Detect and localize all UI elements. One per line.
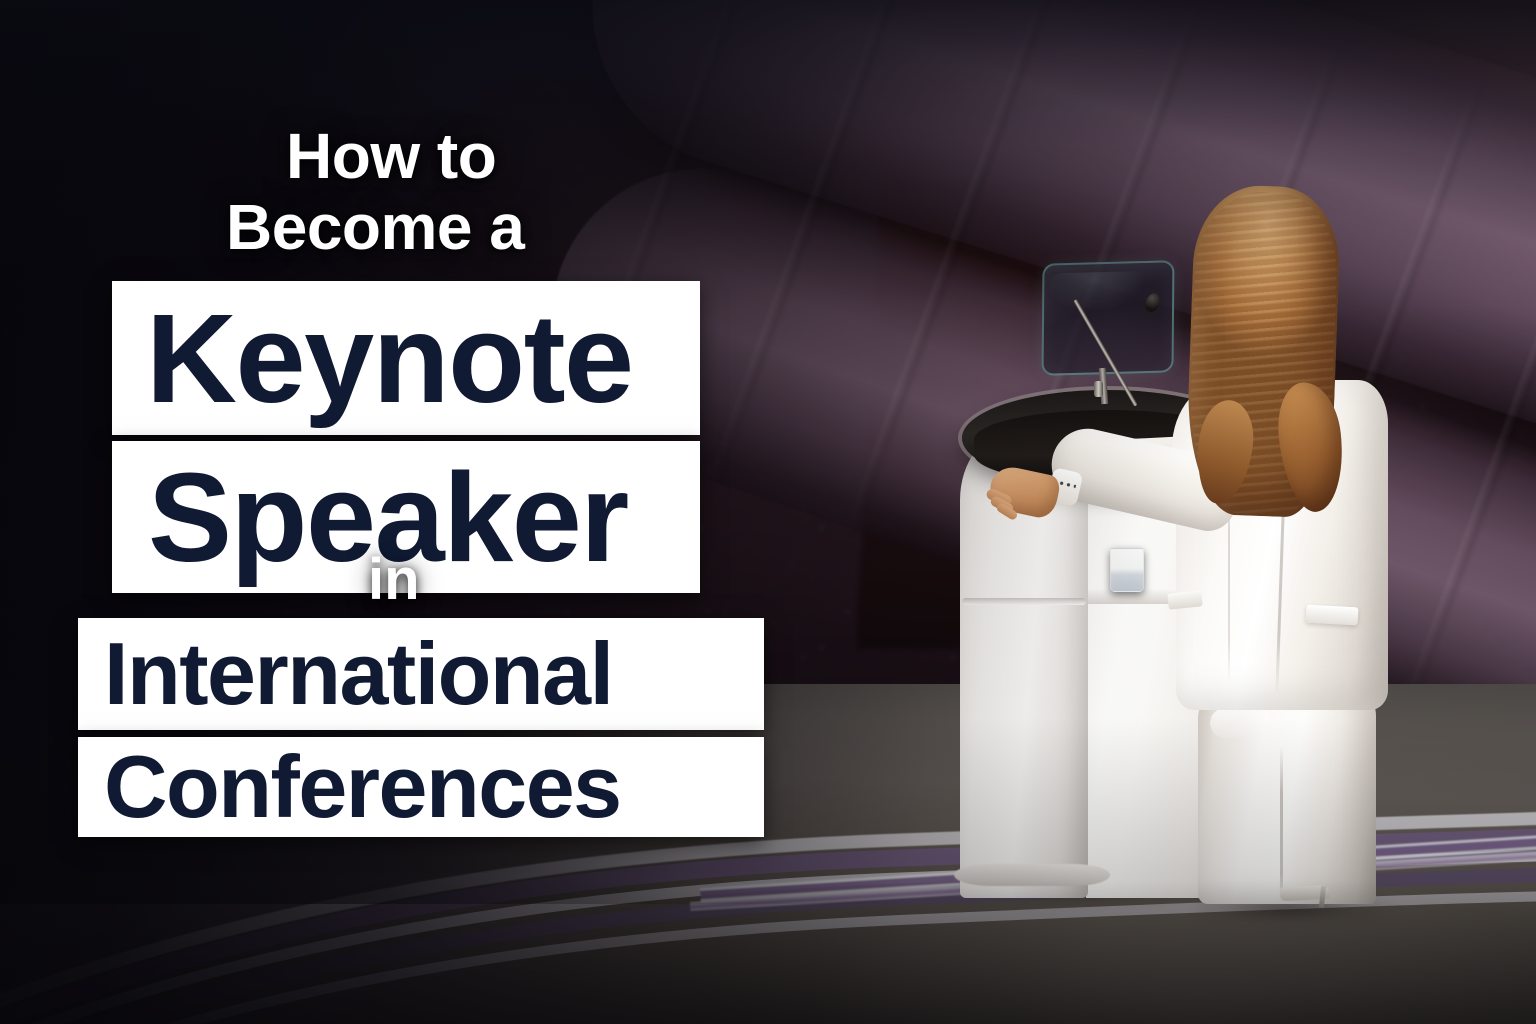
title-kicker-line-2: Become a bbox=[226, 195, 524, 259]
title-connector-in: in bbox=[368, 551, 420, 609]
poster-canvas: How to Become a Keynote Speaker in Inter… bbox=[0, 0, 1536, 1024]
title-highlight-keynote: Keynote bbox=[112, 281, 700, 435]
title-kicker-line-1: How to bbox=[286, 124, 496, 188]
title-highlight-conferences: Conferences bbox=[78, 737, 764, 837]
poster-title-block: How to Become a Keynote Speaker in Inter… bbox=[0, 0, 1536, 1024]
title-highlight-international: International bbox=[78, 618, 764, 730]
